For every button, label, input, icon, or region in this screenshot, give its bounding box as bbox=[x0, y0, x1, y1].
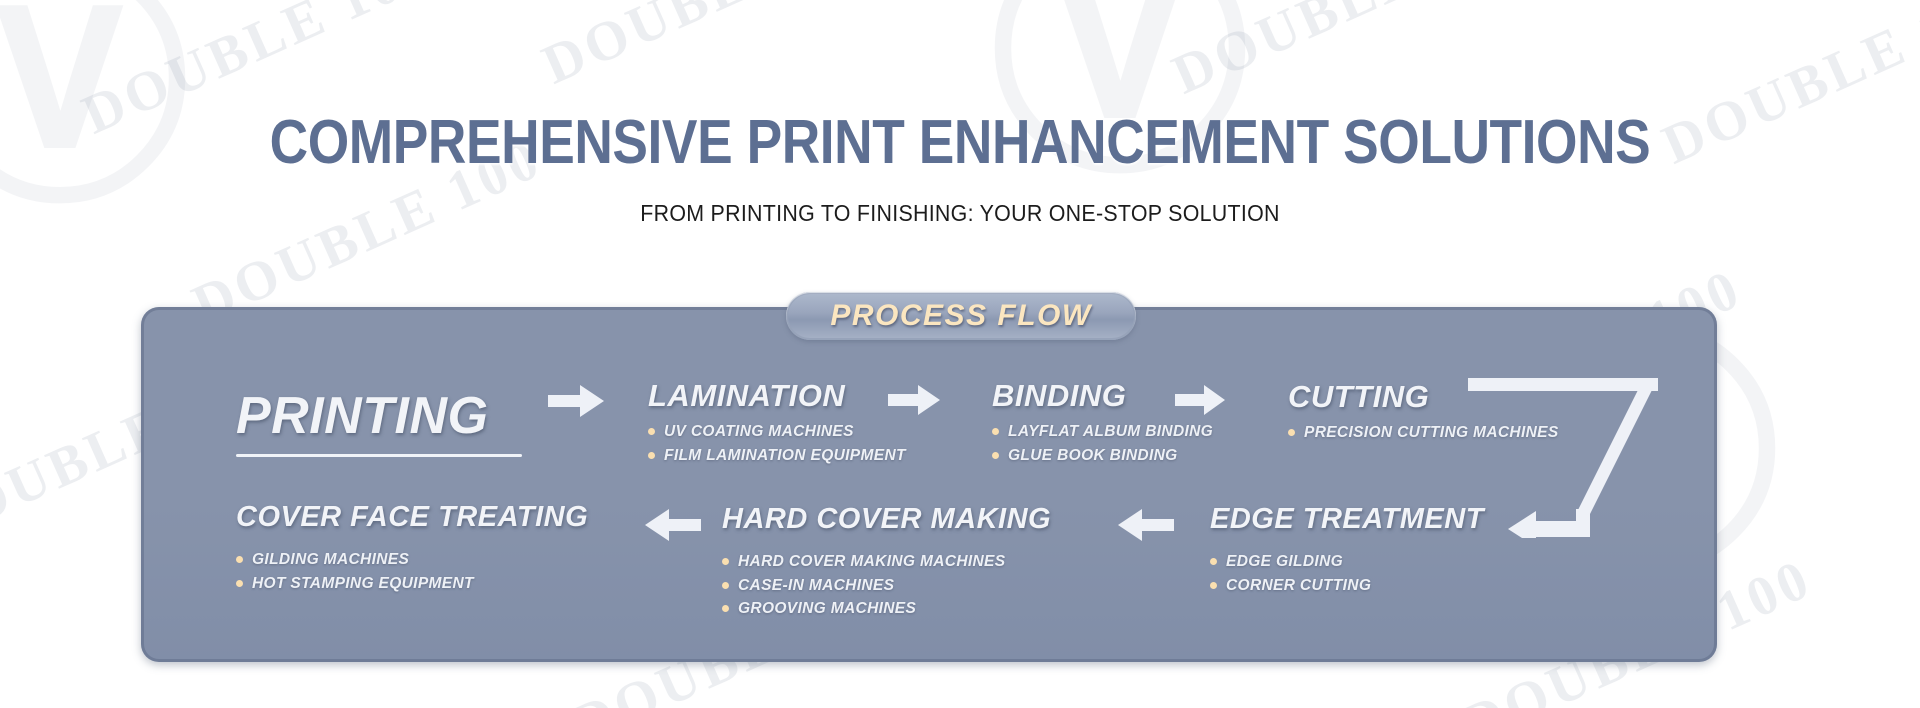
process-flow-badge: PROCESS FLOW bbox=[786, 292, 1136, 340]
list-item: CASE-IN MACHINES bbox=[722, 574, 1051, 598]
bullet-label: HOT STAMPING EQUIPMENT bbox=[252, 572, 474, 596]
bullet-label: FILM LAMINATION EQUIPMENT bbox=[664, 444, 906, 468]
bullet-label: EDGE GILDING bbox=[1226, 550, 1343, 574]
bullet-dot-icon bbox=[722, 605, 729, 612]
bullet-label: GLUE BOOK BINDING bbox=[1008, 444, 1178, 468]
list-item: GLUE BOOK BINDING bbox=[992, 444, 1213, 468]
list-item: CORNER CUTTING bbox=[1210, 574, 1484, 598]
flow-node-bullets: LAYFLAT ALBUM BINDING GLUE BOOK BINDING bbox=[992, 420, 1213, 467]
arrow-right-icon bbox=[548, 384, 604, 418]
title-underline bbox=[236, 454, 522, 457]
page-title: COMPREHENSIVE PRINT ENHANCEMENT SOLUTION… bbox=[134, 0, 1785, 174]
list-item: FILM LAMINATION EQUIPMENT bbox=[648, 444, 906, 468]
bullet-dot-icon bbox=[992, 452, 999, 459]
bullet-dot-icon bbox=[722, 558, 729, 565]
list-item: HOT STAMPING EQUIPMENT bbox=[236, 572, 588, 596]
page-subtitle: FROM PRINTING TO FINISHING: YOUR ONE-STO… bbox=[67, 174, 1853, 227]
list-item: HARD COVER MAKING MACHINES bbox=[722, 550, 1051, 574]
flow-node-cover-face-treating[interactable]: COVER FACE TREATING GILDING MACHINES HOT… bbox=[236, 503, 588, 595]
bullet-dot-icon bbox=[648, 428, 655, 435]
flow-node-bullets: EDGE GILDING CORNER CUTTING bbox=[1210, 550, 1484, 597]
arrow-right-icon bbox=[888, 384, 940, 416]
bullet-dot-icon bbox=[236, 556, 243, 563]
bullet-dot-icon bbox=[722, 582, 729, 589]
process-flow-badge-label: PROCESS FLOW bbox=[830, 299, 1091, 333]
bullet-dot-icon bbox=[1210, 558, 1217, 565]
bullet-dot-icon bbox=[1210, 582, 1217, 589]
arrow-right-icon bbox=[1175, 384, 1225, 416]
bullet-dot-icon bbox=[648, 452, 655, 459]
arrow-left-icon bbox=[1118, 508, 1174, 542]
flow-node-title: PRINTING bbox=[236, 390, 522, 442]
flow-node-title: LAMINATION bbox=[648, 380, 906, 411]
bullet-dot-icon bbox=[236, 580, 243, 587]
flow-node-bullets: UV COATING MACHINES FILM LAMINATION EQUI… bbox=[648, 420, 906, 467]
flow-node-title: HARD COVER MAKING bbox=[722, 505, 1051, 534]
list-item: GROOVING MACHINES bbox=[722, 597, 1051, 621]
flow-node-edge-treatment[interactable]: EDGE TREATMENT EDGE GILDING CORNER CUTTI… bbox=[1210, 505, 1484, 597]
connector-arrow-cutting-to-edge-treatment bbox=[1462, 378, 1662, 543]
list-item: UV COATING MACHINES bbox=[648, 420, 906, 444]
header: COMPREHENSIVE PRINT ENHANCEMENT SOLUTION… bbox=[0, 0, 1920, 227]
flow-node-printing[interactable]: PRINTING bbox=[236, 390, 522, 457]
bullet-dot-icon bbox=[1288, 429, 1295, 436]
list-item: GILDING MACHINES bbox=[236, 548, 588, 572]
arrow-left-icon bbox=[645, 508, 701, 542]
flow-node-lamination[interactable]: LAMINATION UV COATING MACHINES FILM LAMI… bbox=[648, 380, 906, 467]
flow-node-title: EDGE TREATMENT bbox=[1210, 505, 1484, 534]
bullet-label: UV COATING MACHINES bbox=[664, 420, 854, 444]
bullet-label: CORNER CUTTING bbox=[1226, 574, 1371, 598]
bullet-dot-icon bbox=[992, 428, 999, 435]
bullet-label: LAYFLAT ALBUM BINDING bbox=[1008, 420, 1213, 444]
flow-node-bullets: GILDING MACHINES HOT STAMPING EQUIPMENT bbox=[236, 548, 588, 595]
flow-node-bullets: HARD COVER MAKING MACHINES CASE-IN MACHI… bbox=[722, 550, 1051, 621]
flow-node-hard-cover-making[interactable]: HARD COVER MAKING HARD COVER MAKING MACH… bbox=[722, 505, 1051, 621]
bullet-label: GILDING MACHINES bbox=[252, 548, 409, 572]
bullet-label: GROOVING MACHINES bbox=[738, 597, 916, 621]
flow-node-title: COVER FACE TREATING bbox=[236, 503, 588, 532]
list-item: LAYFLAT ALBUM BINDING bbox=[992, 420, 1213, 444]
list-item: EDGE GILDING bbox=[1210, 550, 1484, 574]
bullet-label: CASE-IN MACHINES bbox=[738, 574, 894, 598]
bullet-label: HARD COVER MAKING MACHINES bbox=[738, 550, 1005, 574]
